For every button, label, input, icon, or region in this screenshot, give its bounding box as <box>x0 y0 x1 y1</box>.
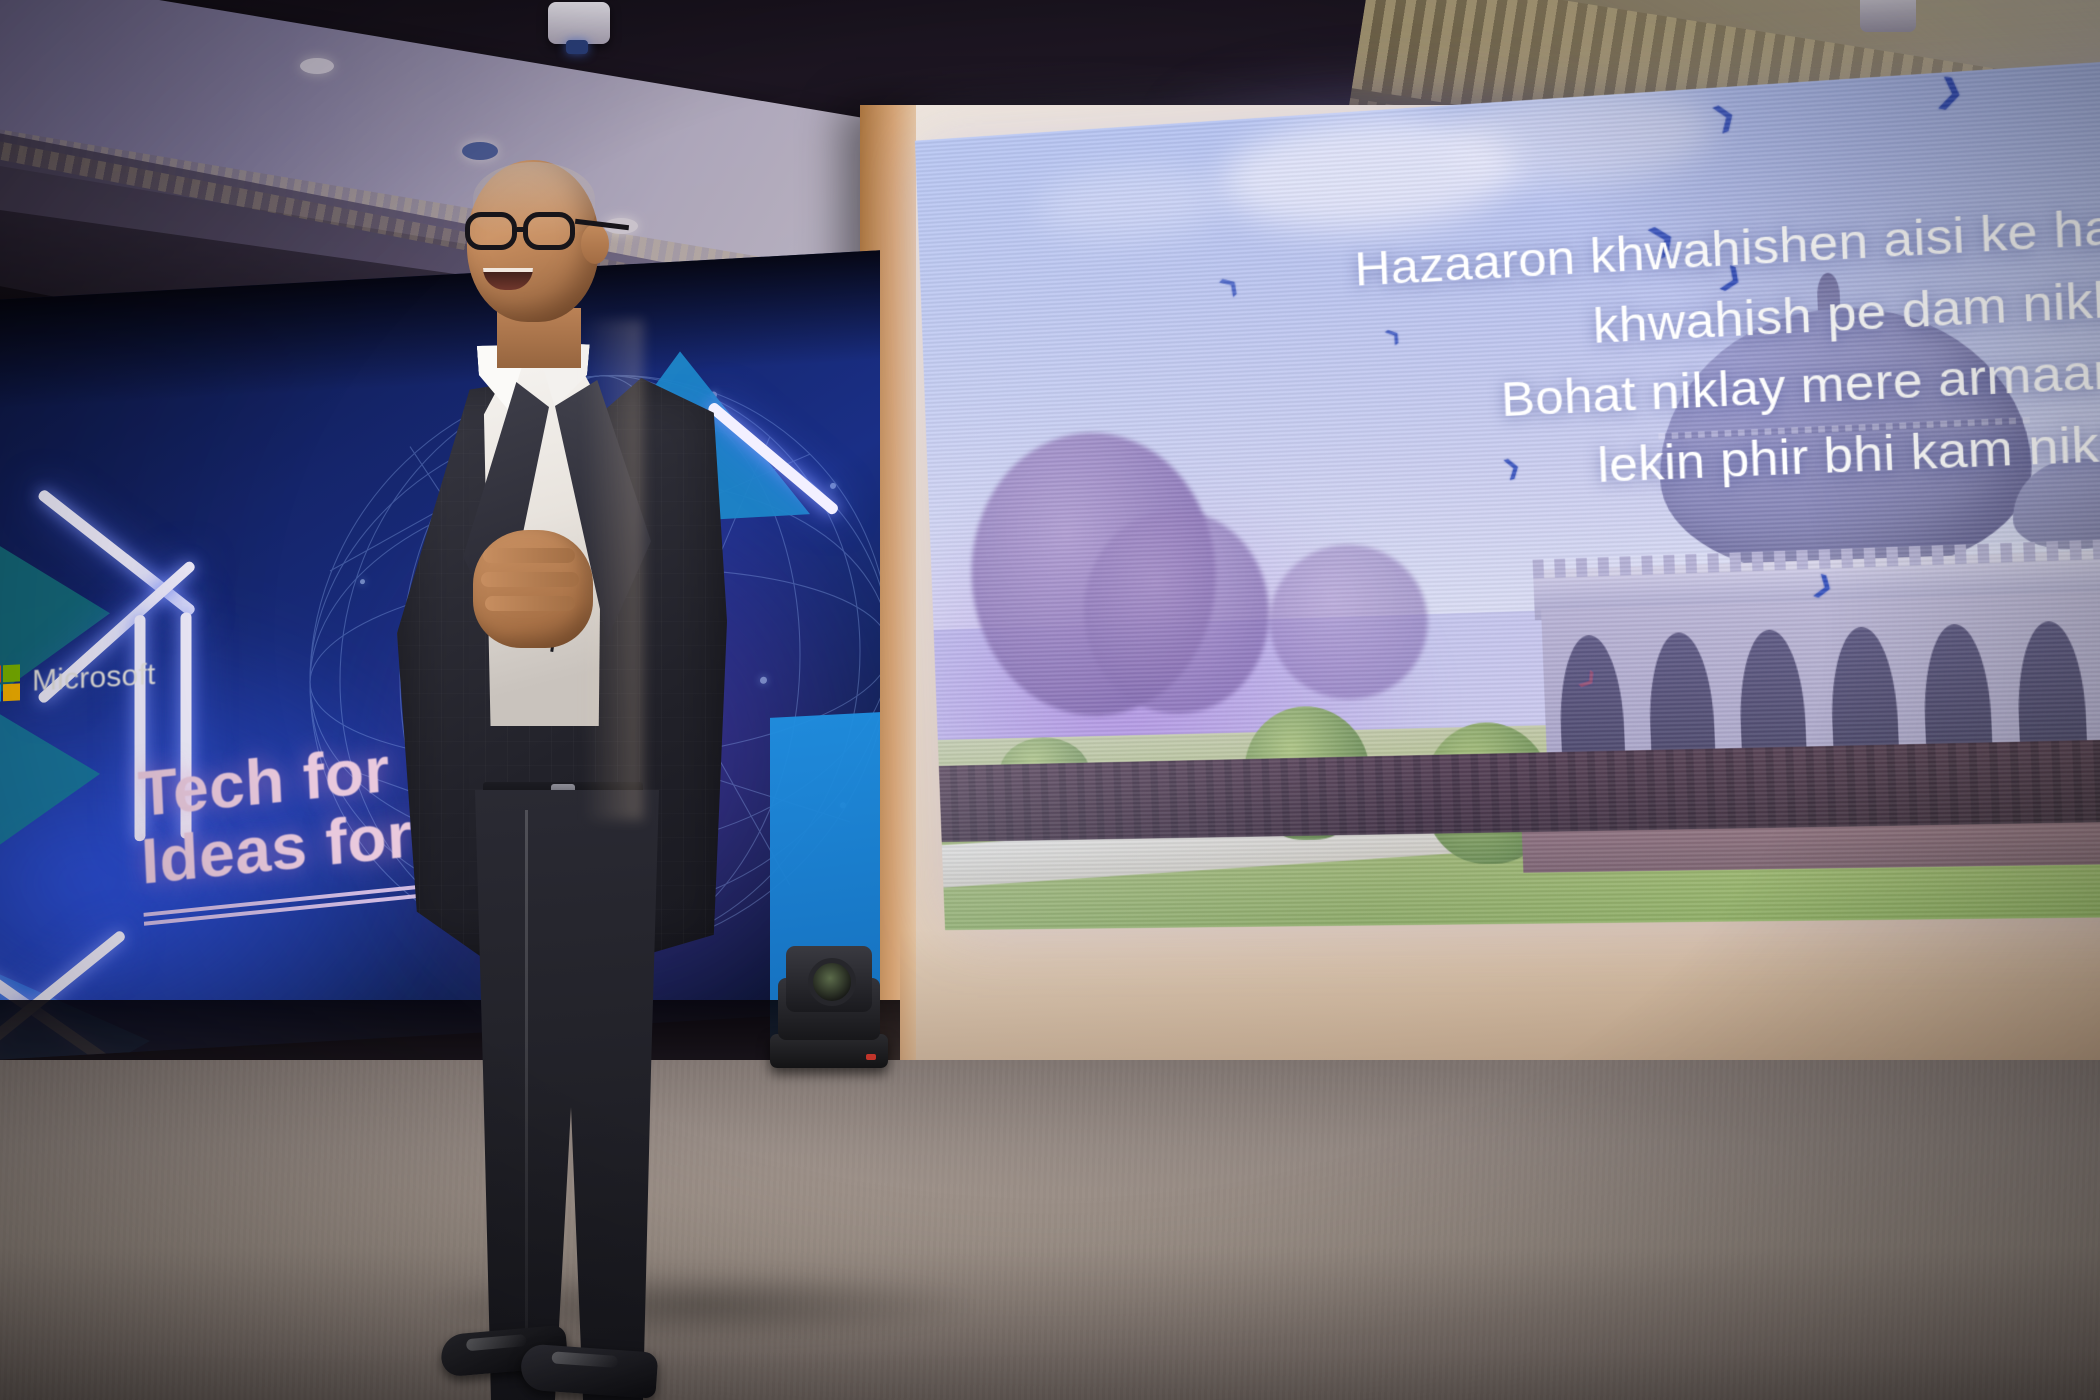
keynote-speaker <box>405 150 725 1390</box>
projector-lens-icon <box>566 40 588 54</box>
finger <box>485 596 575 611</box>
shoe-highlight <box>466 1334 527 1351</box>
ceiling-projector <box>1860 0 1916 32</box>
light-lens-icon <box>808 958 856 1006</box>
rim-light <box>583 320 643 820</box>
projection-screen: ❯ ❯ ❯ ❯ ❯ ❯ ❯ ❯ ❯ Hazaaron khwahishen ai… <box>915 56 2100 930</box>
recessed-ceiling-light <box>300 58 334 74</box>
keynote-stage-photo: ❯ ❯ ❯ ❯ ❯ ❯ ❯ ❯ ❯ Hazaaron khwahishen ai… <box>0 0 2100 1400</box>
lens-right <box>523 212 575 250</box>
lens-left <box>465 212 517 250</box>
microsoft-logo-squares-icon <box>0 664 20 702</box>
eyeglasses-icon <box>461 212 611 252</box>
microsoft-wordmark: Microsoft <box>32 658 156 699</box>
glasses-bridge <box>517 227 527 232</box>
carpet-texture <box>0 1060 2100 1400</box>
trousers <box>467 790 667 1400</box>
bird-icon: ❯ <box>1933 75 1967 111</box>
trouser-crease <box>525 810 528 1370</box>
dress-shoe-right <box>520 1343 659 1398</box>
moving-head-stage-light <box>770 940 888 1068</box>
ceiling-projector <box>548 2 610 44</box>
shoe-highlight <box>551 1351 618 1368</box>
light-head <box>786 946 872 1012</box>
light-status-led <box>866 1054 876 1060</box>
glasses-temple <box>575 219 629 231</box>
finger <box>483 548 575 563</box>
stage-carpet <box>0 1060 2100 1400</box>
clasped-hands <box>473 530 593 648</box>
finger <box>481 572 579 587</box>
